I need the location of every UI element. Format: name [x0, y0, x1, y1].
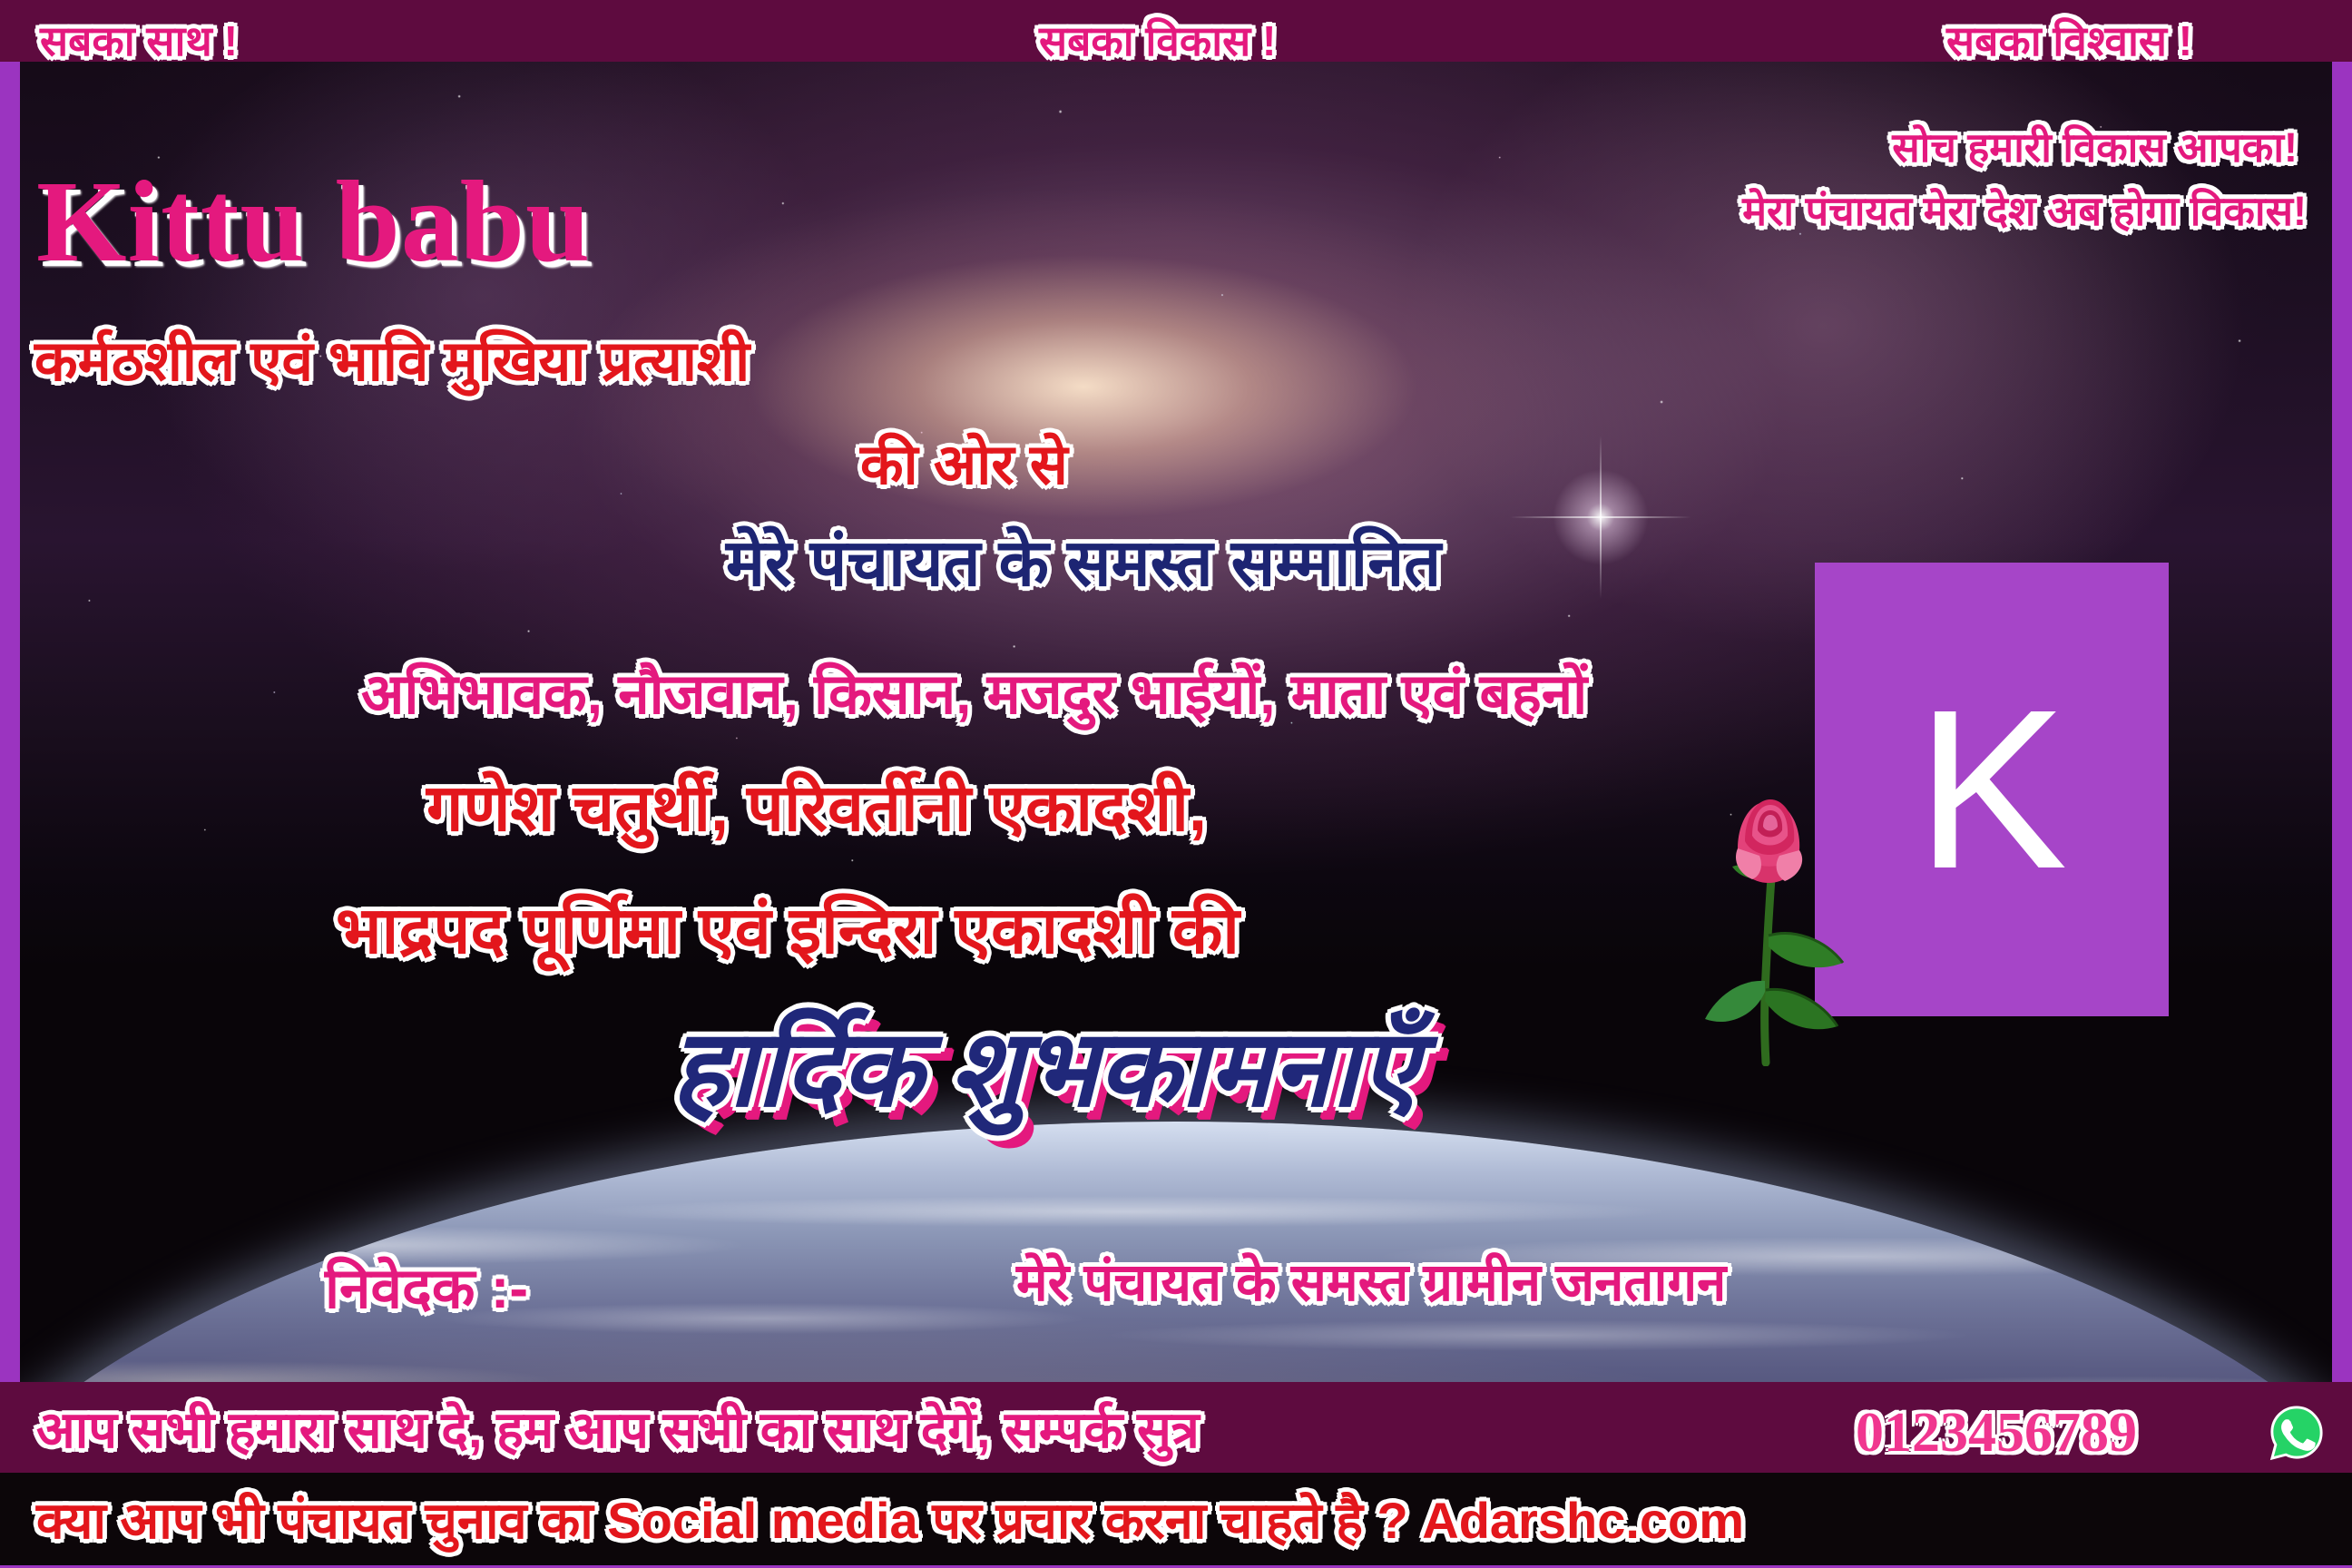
footer-support-text: आप सभी हमारा साथ दे, हम आप सभी का साथ दे… [36, 1405, 1200, 1455]
message-line-2: अभिभावक, नौजवान, किसान, मजदुर भाईयों, मा… [361, 667, 1587, 723]
tagline-one: सोच हमारी विकास आपका! [1892, 127, 2298, 168]
contact-phone-number[interactable]: 0123456789 [1856, 1405, 2137, 1461]
submitter-value: मेरे पंचायत के समस्त ग्रामीन जनतागन [1016, 1257, 1726, 1309]
slogan-center: सबका विकास ! [1039, 20, 1276, 62]
candidate-designation: कर्मठशील एवं भावि मुखिया प्रत्याशी [34, 334, 750, 390]
greeting-headline: हार्दिक शुभकामनाएँ [671, 1016, 1418, 1123]
slogan-left: सबका साथ ! [40, 20, 238, 62]
message-line-1: मेरे पंचायत के समस्त सम्मानित [726, 531, 1441, 596]
candidate-photo-placeholder[interactable]: K [1815, 563, 2169, 1016]
rose-flower-icon [1674, 758, 1865, 1066]
candidate-name: Kittu babu [36, 163, 591, 279]
tagline-two: मेरा पंचायत मेरा देश अब होगा विकास! [1742, 191, 2307, 231]
whatsapp-icon[interactable] [2269, 1405, 2325, 1461]
message-line-3: गणेश चतुर्थी, परिवर्तीनी एकादशी, [426, 776, 1207, 841]
slogan-right: सबका विश्वास ! [1946, 20, 2192, 62]
submitter-label: निवेदक :- [325, 1261, 528, 1318]
election-greeting-poster: सबका साथ ! सबका विकास ! सबका विश्वास ! स… [0, 0, 2352, 1568]
photo-placeholder-letter: K [1815, 563, 2169, 1016]
star-flare-icon [1546, 463, 1655, 572]
message-line-4: भाद्रपद पूर्णिमा एवं इन्दिरा एकादशी की [336, 898, 1240, 964]
from-label: की ओर से [860, 437, 1068, 494]
footer-promo-text: क्या आप भी पंचायत चुनाव का Social media … [36, 1495, 1744, 1546]
